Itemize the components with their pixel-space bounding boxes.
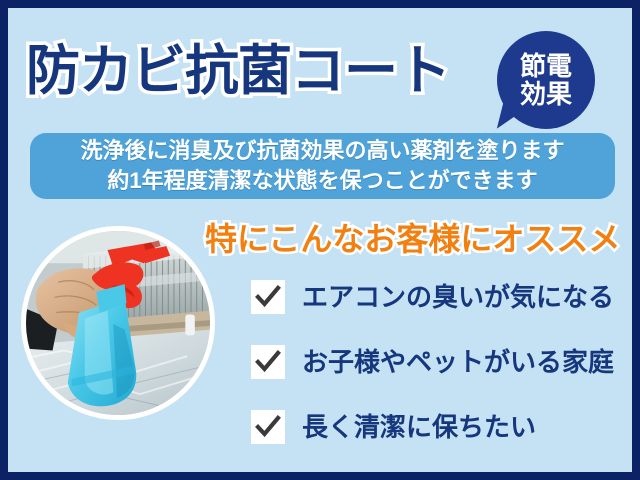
check-glyph	[255, 284, 281, 310]
promo-poster: 防カビ抗菌コート 節電 効果 洗浄後に消臭及び抗菌効果の高い薬剤を塗ります 約1…	[0, 0, 640, 480]
page-title: 防カビ抗菌コート	[26, 36, 450, 106]
badge-line-2: 効果	[520, 80, 572, 108]
description-banner: 洗浄後に消臭及び抗菌効果の高い薬剤を塗ります 約1年程度清潔な状態を保つことがで…	[30, 133, 615, 199]
check-glyph	[255, 349, 281, 375]
check-glyph	[255, 414, 281, 440]
spray-bottle-photo	[21, 226, 215, 420]
checkmark-icon	[251, 280, 285, 314]
description-line-1: 洗浄後に消臭及び抗菌効果の高い薬剤を塗ります	[80, 136, 564, 166]
description-line-2: 約1年程度清潔な状態を保つことができます	[107, 166, 537, 196]
list-item: 長く清潔に保ちたい	[251, 406, 640, 448]
checkmark-icon	[251, 410, 285, 444]
setsuden-kouka-badge: 節電 効果	[497, 31, 595, 129]
spray-bottle-illustration	[26, 231, 210, 415]
list-item: エアコンの臭いが気になる	[251, 276, 640, 318]
list-item-label: 長く清潔に保ちたい	[302, 411, 536, 443]
benefits-checklist: エアコンの臭いが気になる お子様やペットがいる家庭 長く清潔に保ちたい	[251, 276, 640, 471]
badge-line-1: 節電	[520, 52, 572, 80]
checkmark-icon	[251, 345, 285, 379]
list-item-label: お子様やペットがいる家庭	[302, 346, 614, 378]
recommend-heading: 特にこんなお客様にオススメ	[205, 219, 620, 259]
list-item-label: エアコンの臭いが気になる	[302, 281, 614, 313]
list-item: お子様やペットがいる家庭	[251, 341, 640, 383]
